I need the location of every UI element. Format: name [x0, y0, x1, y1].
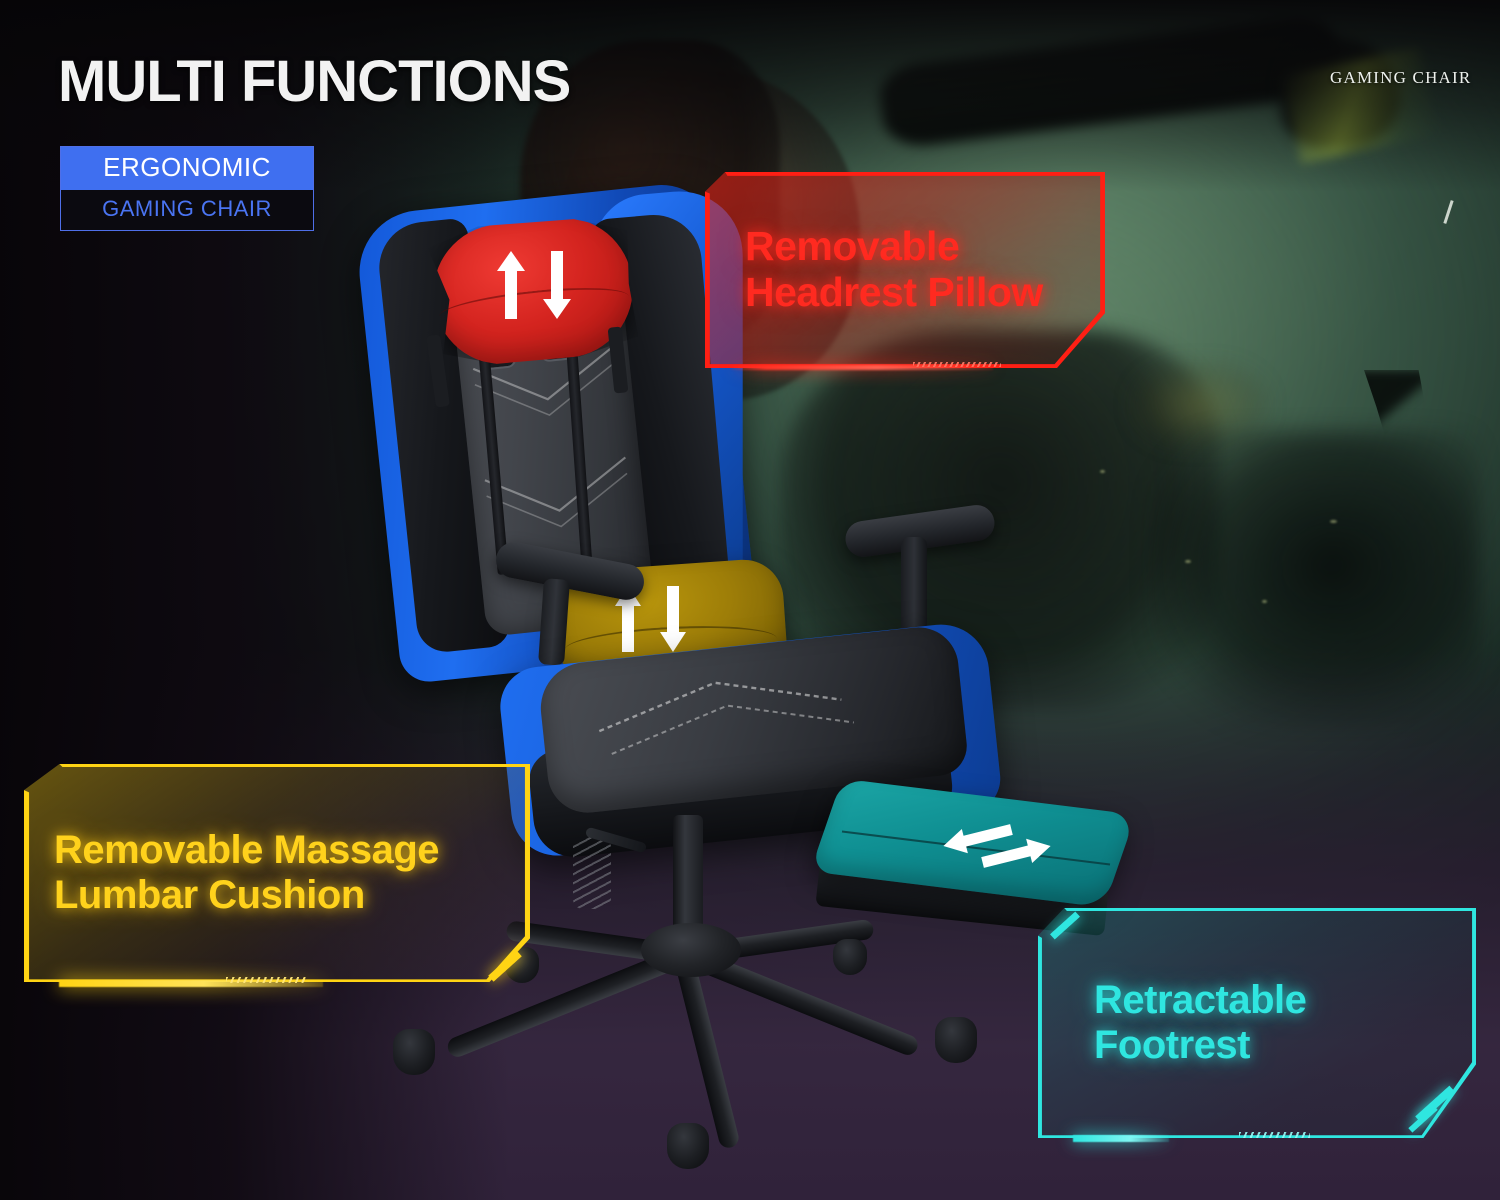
callout-lumbar-line2: Lumbar Cushion [54, 873, 439, 918]
chair-caster-wheel [935, 1017, 977, 1063]
callout-headrest-pillow: Removable Headrest Pillow [705, 172, 1105, 368]
product-infographic: MULTI FUNCTIONS ERGONOMIC GAMING CHAIR G… [0, 0, 1500, 1200]
chair-caster-wheel [833, 939, 867, 975]
callout-headrest-line1: Removable [745, 224, 1043, 270]
callout-footrest-underglow [1073, 1135, 1169, 1142]
background-spark [1262, 600, 1267, 603]
page-title: MULTI FUNCTIONS [58, 48, 570, 115]
badge-gaming-chair-label: GAMING CHAIR [61, 190, 313, 230]
callout-footrest-line1: Retractable [1094, 978, 1306, 1023]
callout-headrest-line2: Headrest Pillow [745, 270, 1043, 316]
callout-footrest-hatch-marks [1239, 1132, 1309, 1138]
callout-lumbar-line1: Removable Massage [54, 828, 439, 873]
chair-base-hub [641, 923, 741, 977]
callout-lumbar-hatch-marks [226, 977, 307, 983]
background-spark [1330, 520, 1337, 523]
background-spark [1100, 470, 1105, 473]
callout-footrest-text: Retractable Footrest [1094, 978, 1306, 1068]
callout-headrest-hatch-marks [913, 362, 1001, 367]
chair-caster-wheel [667, 1123, 709, 1169]
callout-footrest: Retractable Footrest [1038, 908, 1476, 1138]
product-badge: ERGONOMIC GAMING CHAIR [60, 146, 314, 231]
callout-lumbar-text: Removable Massage Lumbar Cushion [54, 828, 439, 918]
callout-lumbar-cushion: Removable Massage Lumbar Cushion [24, 764, 530, 982]
chair-tilt-spring [573, 837, 611, 909]
badge-ergonomic-label: ERGONOMIC [61, 147, 313, 190]
chair-caster-wheel [393, 1029, 435, 1075]
callout-headrest-text: Removable Headrest Pillow [745, 224, 1043, 316]
background-spark [1185, 560, 1191, 563]
corner-brand-label: GAMING CHAIR [1330, 68, 1471, 88]
callout-footrest-line2: Footrest [1094, 1023, 1306, 1068]
chair-base-leg [675, 961, 740, 1150]
